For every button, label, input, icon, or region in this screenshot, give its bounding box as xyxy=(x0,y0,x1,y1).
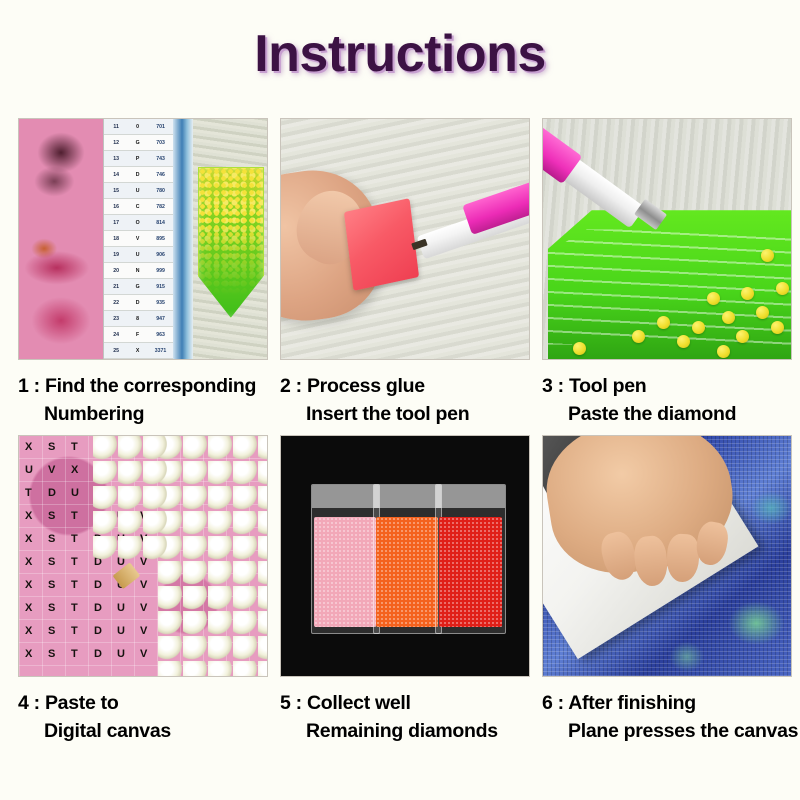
step-4-caption: 4 : Paste to Digital canvas xyxy=(18,689,268,746)
canvas-symbol: X xyxy=(25,580,32,591)
instruction-step-6: 6 : After finishing Plane presses the ca… xyxy=(542,435,792,746)
step-6-caption-line1: 6 : After finishing xyxy=(542,692,696,714)
legend-row: 24F963 xyxy=(104,327,173,343)
legend-row-number: 22 xyxy=(104,300,128,306)
diamond-grain-texture xyxy=(376,517,438,627)
canvas-symbol: X xyxy=(25,442,32,453)
diamond-bead xyxy=(707,292,720,305)
canvas-symbol: S xyxy=(48,534,55,545)
legend-row-number: 17 xyxy=(104,220,128,226)
canvas-symbol: X xyxy=(25,649,32,660)
legend-row: 238947 xyxy=(104,311,173,327)
canvas-symbol: T xyxy=(71,580,78,591)
canvas-symbol: U xyxy=(71,488,79,499)
canvas-edge-strip xyxy=(173,119,193,359)
legend-row-code: 780 xyxy=(147,188,173,194)
canvas-symbol: V xyxy=(48,465,55,476)
canvas-symbol: S xyxy=(48,603,55,614)
diamond-bead xyxy=(717,345,730,358)
legend-row-symbol: 8 xyxy=(128,316,147,322)
step-5-photo xyxy=(280,435,530,677)
legend-row-number: 14 xyxy=(104,172,128,178)
step-6-photo xyxy=(542,435,792,677)
instruction-step-3: 3 : Tool pen Paste the diamond xyxy=(542,118,792,429)
legend-row-code: 743 xyxy=(147,156,173,162)
canvas-symbol: X xyxy=(25,511,32,522)
step-3-caption-line2: Paste the diamond xyxy=(542,400,792,428)
legend-row: 17O814 xyxy=(104,215,173,231)
canvas-symbol: X xyxy=(71,465,78,476)
instruction-step-2: 2 : Process glue Insert the tool pen xyxy=(280,118,530,429)
orange-diamonds-bag xyxy=(373,484,442,635)
legend-row-number: 12 xyxy=(104,140,128,146)
legend-row-number: 19 xyxy=(104,252,128,258)
canvas-symbol: T xyxy=(71,511,78,522)
instruction-steps-grid: 11070112G70313P74314D74615U78016C78217O8… xyxy=(18,118,782,745)
instruction-step-1: 11070112G70313P74314D74615U78016C78217O8… xyxy=(18,118,268,429)
diamond-fill xyxy=(314,517,376,627)
canvas-symbol: D xyxy=(94,626,102,637)
canvas-symbol: V xyxy=(140,649,147,660)
legend-row-number: 25 xyxy=(104,348,128,354)
legend-row-code: 963 xyxy=(147,332,173,338)
diamond-fill xyxy=(376,517,438,627)
legend-row-symbol: N xyxy=(128,268,147,274)
canvas-symbol: T xyxy=(71,442,78,453)
step-1-photo: 11070112G70313P74314D74615U78016C78217O8… xyxy=(18,118,268,360)
canvas-symbol: S xyxy=(48,580,55,591)
legend-row: 19U906 xyxy=(104,247,173,263)
legend-row: 110701 xyxy=(104,119,173,135)
legend-row-symbol: F xyxy=(128,332,147,338)
canvas-symbol: X xyxy=(25,534,32,545)
step-3-photo xyxy=(542,118,792,360)
tray-grooves xyxy=(548,229,791,344)
legend-row-code: 701 xyxy=(147,124,173,130)
legend-row: 25X3371 xyxy=(104,343,173,359)
legend-row-number: 20 xyxy=(104,268,128,274)
pasted-diamond-beads-center xyxy=(93,436,167,561)
step-2-photo xyxy=(280,118,530,360)
diamond-grain-texture xyxy=(439,517,503,627)
legend-row-number: 24 xyxy=(104,332,128,338)
legend-row: 15U780 xyxy=(104,183,173,199)
step-5-caption-line1: 5 : Collect well xyxy=(280,692,411,714)
diamond-bead xyxy=(722,311,735,324)
red-diamonds-bag xyxy=(435,484,506,635)
diamond-bead xyxy=(771,321,784,334)
step-3-caption-line1: 3 : Tool pen xyxy=(542,375,646,397)
legend-row-code: 703 xyxy=(147,140,173,146)
canvas-symbol: U xyxy=(25,465,33,476)
page-title: Instructions xyxy=(0,24,800,84)
legend-row-code: 947 xyxy=(147,316,173,322)
legend-row-symbol: U xyxy=(128,252,147,258)
canvas-symbol: T xyxy=(25,488,32,499)
canvas-symbol: X xyxy=(25,603,32,614)
canvas-symbol: S xyxy=(48,626,55,637)
legend-row-number: 18 xyxy=(104,236,128,242)
diamond-bead xyxy=(692,321,705,334)
legend-row-symbol: G xyxy=(128,284,147,290)
step-4-caption-line2: Digital canvas xyxy=(18,717,268,745)
canvas-symbol: U xyxy=(117,626,125,637)
printed-canvas-image xyxy=(19,119,103,359)
symbol-number-legend-table: 11070112G70313P74314D74615U78016C78217O8… xyxy=(103,119,174,359)
legend-row-symbol: D xyxy=(128,300,147,306)
pasted-diamond-beads-right xyxy=(158,436,267,676)
legend-row: 13P743 xyxy=(104,151,173,167)
legend-row-code: 814 xyxy=(147,220,173,226)
legend-row-symbol: D xyxy=(128,172,147,178)
canvas-symbol: X xyxy=(25,557,32,568)
pink-diamonds-bag xyxy=(311,484,380,635)
legend-row: 22D935 xyxy=(104,295,173,311)
step-1-caption-line1: 1 : Find the corresponding xyxy=(18,375,256,397)
step-3-caption: 3 : Tool pen Paste the diamond xyxy=(542,372,792,429)
canvas-symbol: U xyxy=(117,649,125,660)
step-2-caption-line2: Insert the tool pen xyxy=(280,400,530,428)
legend-row-number: 16 xyxy=(104,204,128,210)
legend-row-number: 11 xyxy=(104,124,128,130)
diamond-bead xyxy=(761,249,774,262)
canvas-symbol: T xyxy=(71,534,78,545)
step-2-caption-line1: 2 : Process glue xyxy=(280,375,425,397)
canvas-symbol: T xyxy=(71,557,78,568)
glue-square-image xyxy=(344,199,419,292)
canvas-symbol: T xyxy=(71,626,78,637)
legend-row-code: 782 xyxy=(147,204,173,210)
legend-row: 14D746 xyxy=(104,167,173,183)
legend-row: 16C782 xyxy=(104,199,173,215)
canvas-symbol: D xyxy=(94,603,102,614)
canvas-symbol: D xyxy=(94,580,102,591)
step-4-photo: XSTDUVXSTDUVXSTDUVXSTDUVXSTDUVXSTDUVXSTD… xyxy=(18,435,268,677)
canvas-symbol: V xyxy=(140,603,147,614)
legend-row-symbol: X xyxy=(128,348,147,354)
canvas-symbol: V xyxy=(140,626,147,637)
step-6-caption-line2: Plane presses the canvas xyxy=(542,717,792,745)
legend-row-code: 3371 xyxy=(147,348,173,354)
canvas-symbol: S xyxy=(48,649,55,660)
canvas-symbol: D xyxy=(94,649,102,660)
legend-row: 20N999 xyxy=(104,263,173,279)
step-1-caption-line2: Numbering xyxy=(18,400,268,428)
legend-row-number: 15 xyxy=(104,188,128,194)
canvas-symbol: S xyxy=(48,511,55,522)
step-1-caption: 1 : Find the corresponding Numbering xyxy=(18,372,268,429)
canvas-symbol: S xyxy=(48,442,55,453)
instruction-step-4: XSTDUVXSTDUVXSTDUVXSTDUVXSTDUVXSTDUVXSTD… xyxy=(18,435,268,746)
step-5-caption-line2: Remaining diamonds xyxy=(280,717,530,745)
legend-row-symbol: C xyxy=(128,204,147,210)
legend-row-code: 999 xyxy=(147,268,173,274)
diamond-bead xyxy=(573,342,586,355)
canvas-symbol: V xyxy=(140,580,147,591)
legend-row-number: 13 xyxy=(104,156,128,162)
step-2-caption: 2 : Process glue Insert the tool pen xyxy=(280,372,530,429)
diamond-grain-texture xyxy=(314,517,376,627)
legend-row: 12G703 xyxy=(104,135,173,151)
canvas-symbol: D xyxy=(48,488,56,499)
canvas-symbol: T xyxy=(71,649,78,660)
legend-row-code: 746 xyxy=(147,172,173,178)
diamond-fill xyxy=(439,517,503,627)
legend-row-number: 23 xyxy=(104,316,128,322)
step-4-caption-line1: 4 : Paste to xyxy=(18,692,118,714)
canvas-symbol: T xyxy=(71,603,78,614)
legend-row-code: 915 xyxy=(147,284,173,290)
canvas-symbol: U xyxy=(117,603,125,614)
legend-row-number: 21 xyxy=(104,284,128,290)
canvas-symbol: X xyxy=(25,626,32,637)
legend-row-symbol: G xyxy=(128,140,147,146)
legend-row-code: 935 xyxy=(147,300,173,306)
legend-row: 21G915 xyxy=(104,279,173,295)
step-5-caption: 5 : Collect well Remaining diamonds xyxy=(280,689,530,746)
legend-row: 18V895 xyxy=(104,231,173,247)
legend-row-code: 895 xyxy=(147,236,173,242)
step-6-caption: 6 : After finishing Plane presses the ca… xyxy=(542,689,792,746)
legend-row-code: 906 xyxy=(147,252,173,258)
legend-row-symbol: V xyxy=(128,236,147,242)
canvas-symbol: S xyxy=(48,557,55,568)
diamond-bead xyxy=(677,335,690,348)
diamond-bead xyxy=(657,316,670,329)
legend-row-symbol: U xyxy=(128,188,147,194)
instruction-step-5: 5 : Collect well Remaining diamonds xyxy=(280,435,530,746)
legend-row-symbol: P xyxy=(128,156,147,162)
legend-row-symbol: 0 xyxy=(128,124,147,130)
legend-row-symbol: O xyxy=(128,220,147,226)
